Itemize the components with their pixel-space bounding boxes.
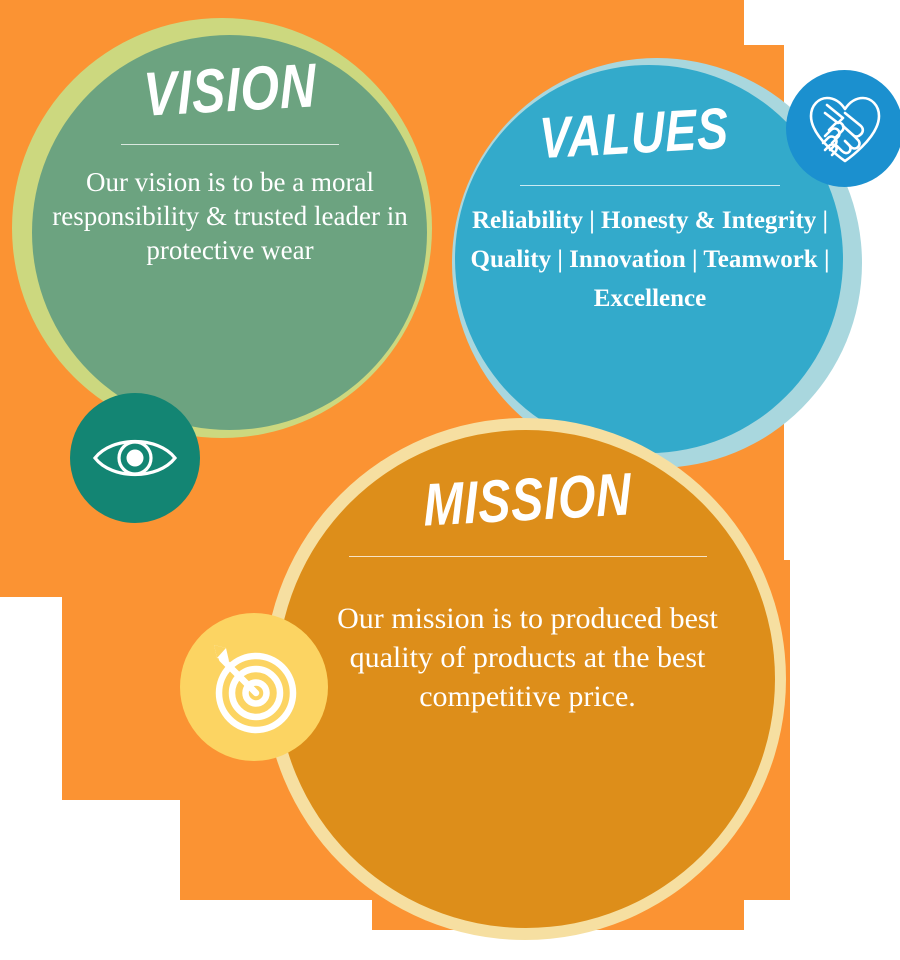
eye-icon — [92, 432, 178, 484]
mission-title: MISSION — [345, 460, 711, 540]
handshake-icon-badge[interactable] — [786, 70, 900, 187]
target-icon-badge[interactable] — [180, 613, 328, 761]
values-card: VALUES Reliability | Honesty & Integrity… — [470, 105, 830, 318]
target-arrow-icon — [204, 637, 304, 737]
mission-divider — [349, 556, 707, 557]
vision-card: VISION Our vision is to be a moral respo… — [40, 60, 420, 267]
values-body-text: Reliability | Honesty & Integrity | Qual… — [470, 202, 830, 318]
values-title: VALUES — [476, 96, 791, 171]
mission-card: MISSION Our mission is to produced best … — [300, 470, 755, 716]
values-divider — [520, 185, 780, 186]
mission-body-text: Our mission is to produced best quality … — [300, 599, 755, 716]
vision-title: VISION — [77, 52, 383, 131]
infographic-canvas: VISION Our vision is to be a moral respo… — [0, 0, 900, 960]
handshake-heart-icon — [805, 92, 885, 166]
vision-body-text: Our vision is to be a moral responsibili… — [40, 165, 420, 267]
eye-icon-badge[interactable] — [70, 393, 200, 523]
vision-divider — [121, 144, 339, 145]
